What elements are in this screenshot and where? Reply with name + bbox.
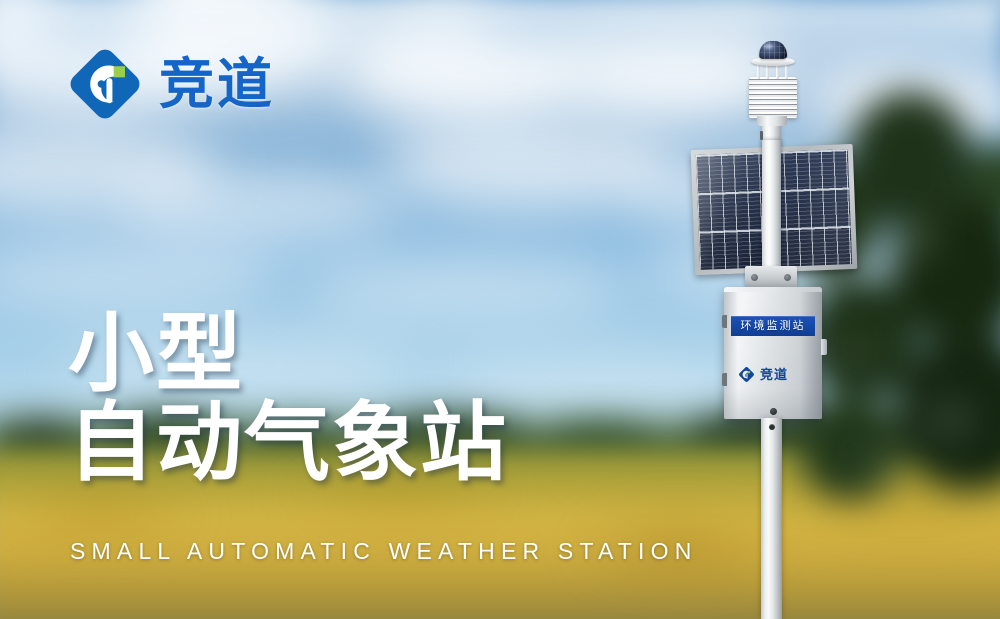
enclosure-brand-word: 竞道 [760,368,788,381]
enclosure-latch [821,339,827,355]
headline-line-2: 自动气象站 [68,399,688,488]
mast-pole-upper-segment [762,140,781,272]
sensor-support-posts [757,64,789,79]
brand-lockup: 竞道 [68,47,275,121]
shield-neck [757,116,787,126]
subtitle-text: SMALL AUTOMATIC WEATHER STATION [70,540,698,563]
support-post [757,64,760,79]
cloud-blob [120,164,400,244]
solar-panel-mount-bracket [745,266,797,288]
support-post [766,64,769,79]
enclosure-vent-hole [770,408,777,415]
bracket-bolt-icon [751,274,758,281]
enclosure-label-band: 环境监测站 [731,316,815,336]
bracket-bolt-icon [784,274,791,281]
jingdao-diamond-logo-icon [738,366,755,383]
support-post [776,64,779,79]
dome-facet-pattern [759,41,787,59]
cloud-blob [0,236,280,312]
support-post [785,64,788,79]
sensor-cable-port [760,131,763,140]
enclosure-hinge [722,315,727,328]
headline-line-1: 小型 [68,310,688,399]
dome-specular-glint [764,44,773,49]
enclosure-hinge [722,373,727,386]
mast-bolt-icon [769,424,775,430]
louvered-radiation-shield-icon [749,77,797,118]
ultrasonic-wind-sensor-dome-icon [759,41,787,59]
headline-block: 小型 自动气象站 [68,310,688,487]
jingdao-diamond-logo-icon [68,47,142,121]
brand-name: 竞道 [159,57,275,112]
control-enclosure-icon: 环境监测站 竞道 [724,287,822,419]
mast-pole-lower-segment [761,418,782,619]
enclosure-brand-logo: 竞道 [738,364,810,384]
enclosure-label-text: 环境监测站 [741,321,806,332]
product-banner: 环境监测站 竞道 竞道 [0,0,1000,619]
